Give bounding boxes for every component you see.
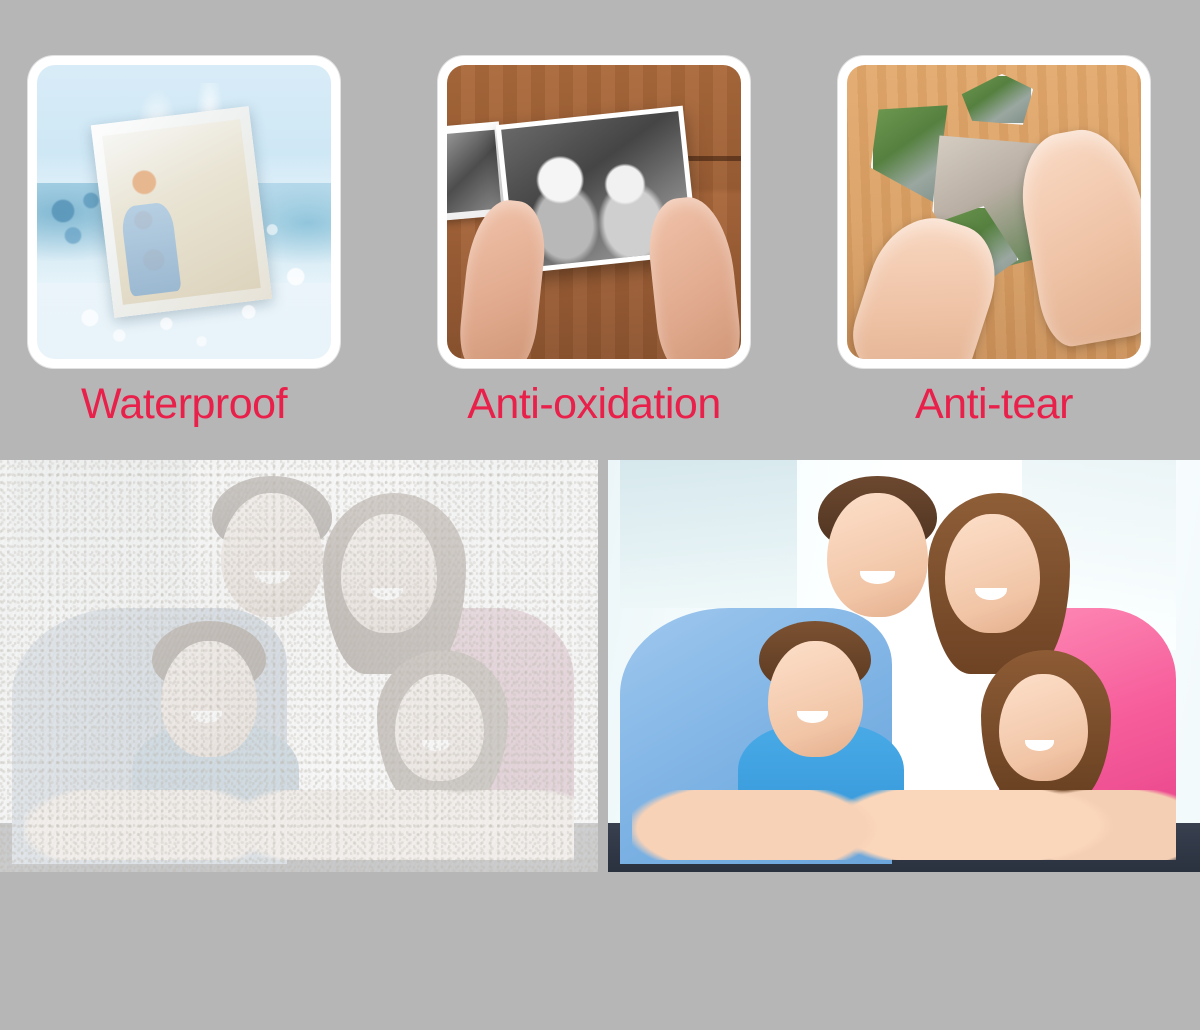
feature-card-anti-oxidation[interactable]	[438, 56, 750, 368]
feature-label-anti-oxidation: Anti-oxidation	[438, 378, 750, 430]
anti-oxidation-photo	[447, 65, 741, 359]
feature-label-anti-tear: Anti-tear	[838, 378, 1150, 430]
anti-tear-photo	[847, 65, 1141, 359]
feature-cards-row: Waterproof Anti-oxidation Anti-tear	[0, 0, 1200, 455]
before-after-comparison	[0, 460, 1200, 872]
feature-card-anti-tear[interactable]	[838, 56, 1150, 368]
girl-face	[999, 674, 1088, 781]
durability-timeline	[0, 872, 1200, 1030]
waterproof-photo	[37, 65, 331, 359]
family-portrait-vivid	[608, 460, 1200, 872]
window-left	[620, 460, 798, 608]
comparison-photo-vivid	[608, 460, 1200, 872]
boy-face	[768, 641, 863, 756]
mother-face	[945, 514, 1040, 633]
feature-label-waterproof: Waterproof	[28, 378, 340, 430]
grain-overlay	[0, 460, 598, 872]
crossed-arms	[632, 790, 1177, 860]
father-face	[827, 493, 928, 617]
water-bubbles	[37, 65, 331, 359]
product-feature-infographic: Waterproof Anti-oxidation Anti-tear	[0, 0, 1200, 1030]
comparison-photo-faded	[0, 460, 598, 872]
feature-card-waterproof[interactable]	[28, 56, 340, 368]
